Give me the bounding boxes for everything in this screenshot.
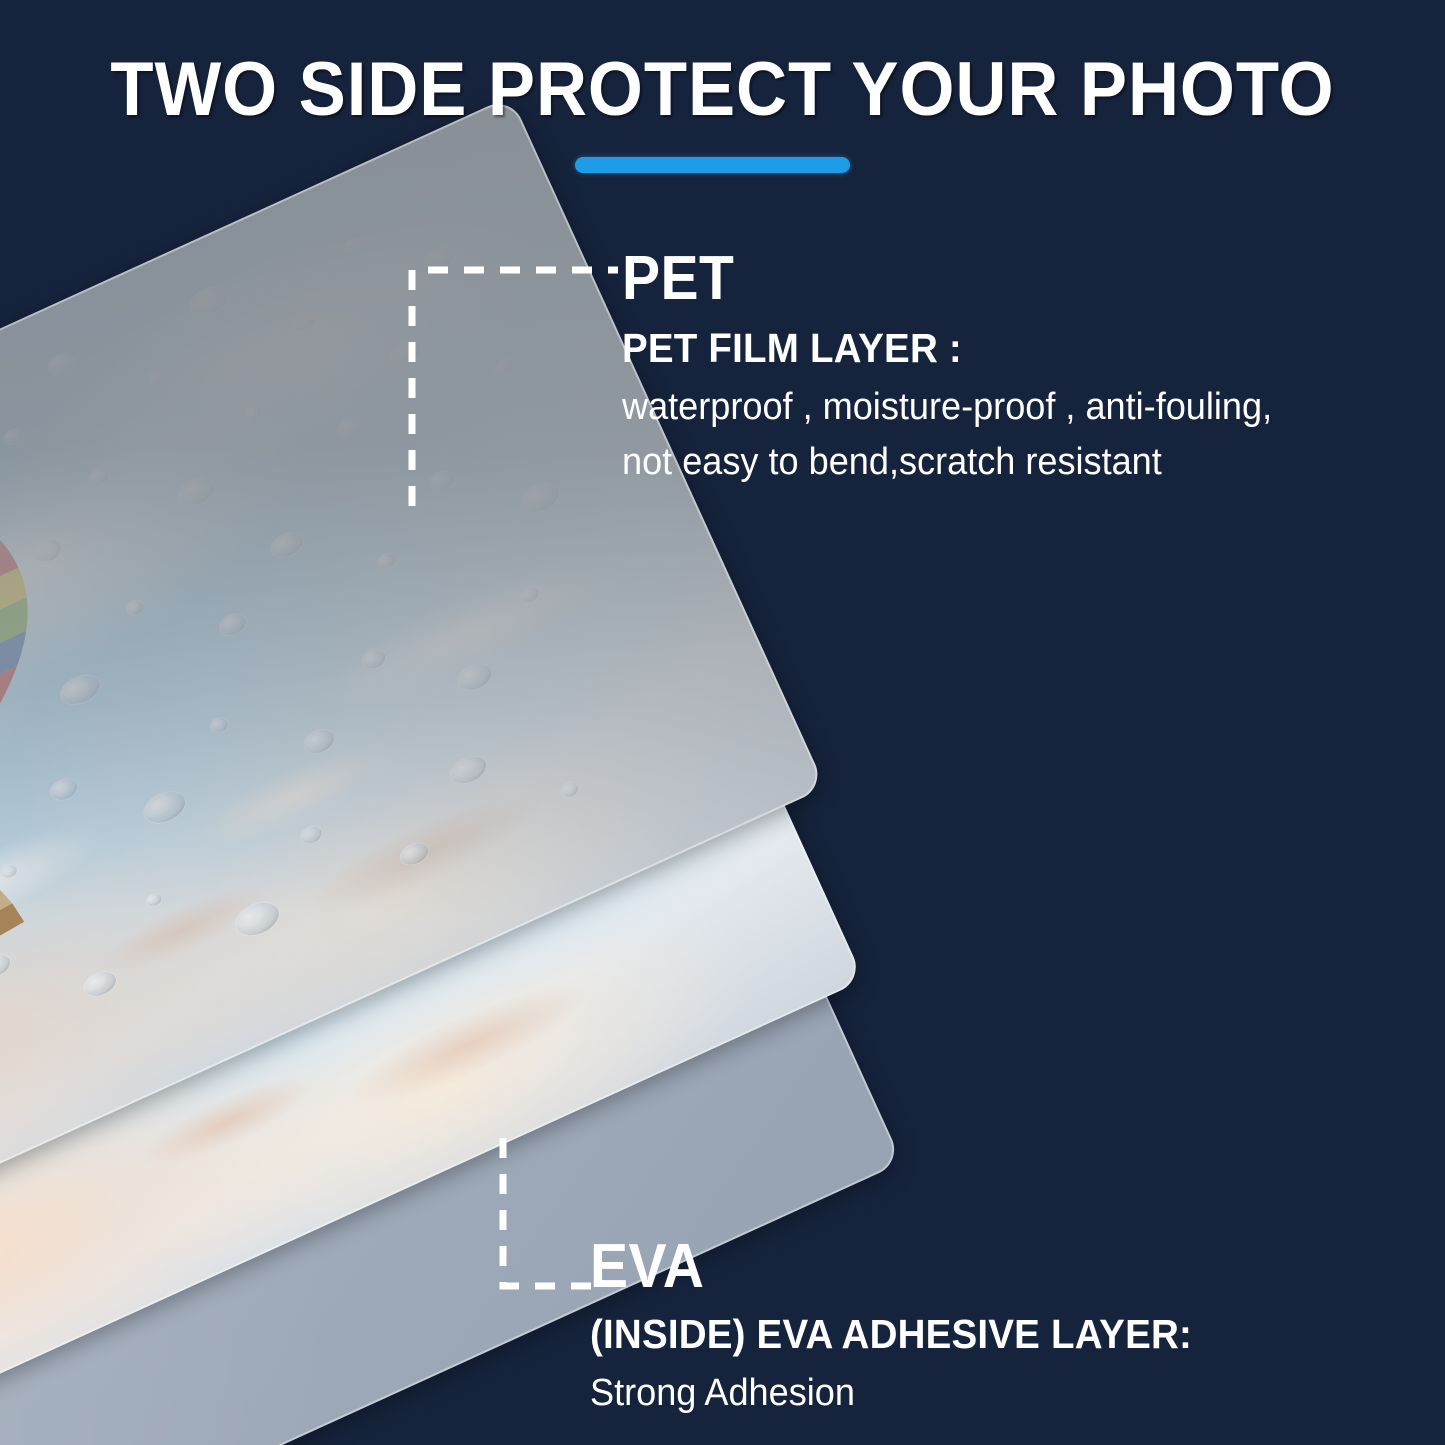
- eva-leader-line: [495, 1134, 605, 1294]
- page-title: TWO SIDE PROTECT YOUR PHOTO: [51, 52, 1395, 128]
- product-infographic: TWO SIDE PROTECT YOUR PHOTO PET PET FILM…: [0, 0, 1445, 1445]
- eva-description: Strong Adhesion: [590, 1366, 1312, 1421]
- eva-code-label: EVA: [590, 1236, 1289, 1298]
- layer-stack-illustration: [0, 0, 1445, 1445]
- hot-air-balloon-icon: [0, 409, 204, 1121]
- pet-heading: PET FILM LAYER :: [622, 326, 1280, 372]
- eva-callout: EVA (INSIDE) EVA ADHESIVE LAYER: Strong …: [590, 1236, 1350, 1421]
- eva-heading: (INSIDE) EVA ADHESIVE LAYER:: [590, 1312, 1304, 1358]
- pet-callout: PET PET FILM LAYER : waterproof , moistu…: [622, 248, 1322, 491]
- pet-code-label: PET: [622, 248, 1266, 310]
- title-accent-bar: [575, 157, 850, 173]
- pet-leader-line: [404, 262, 624, 512]
- balloon-basket: [0, 837, 28, 987]
- pet-description: waterproof , moisture-proof , anti-fouli…: [622, 380, 1316, 491]
